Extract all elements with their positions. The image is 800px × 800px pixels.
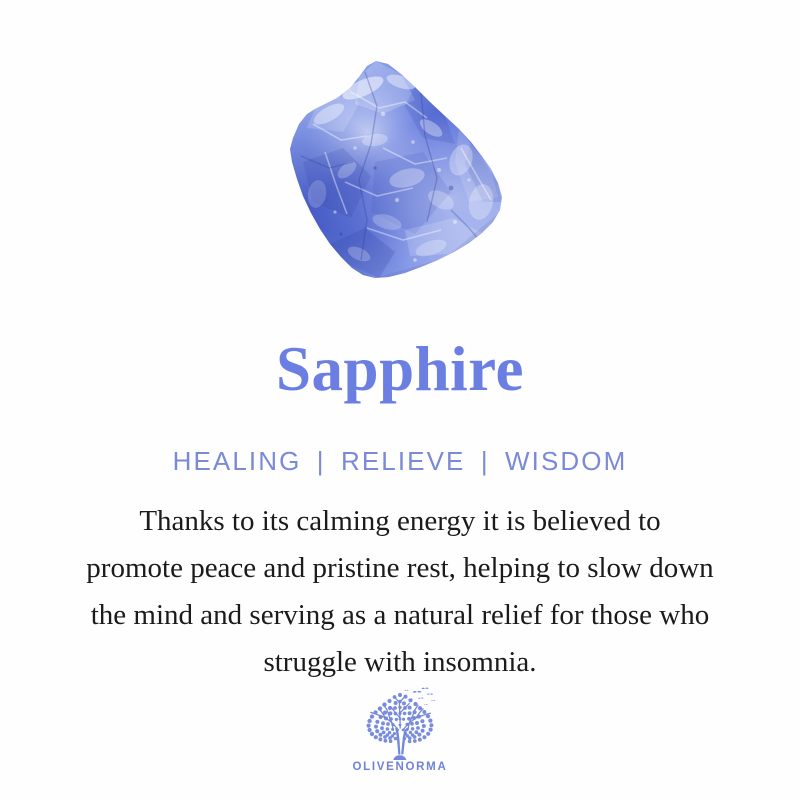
keyword-healing: HEALING [173, 446, 302, 476]
gemstone-title: Sapphire [0, 336, 800, 402]
description-line: Thanks to its calming energy it is belie… [20, 498, 780, 545]
brand-logo: OLIVENORMA [0, 686, 800, 773]
gemstone-info-card: Sapphire HEALING | RELIEVE | WISDOM Than… [0, 0, 800, 800]
brand-name: OLIVENORMA [353, 761, 448, 773]
keyword-wisdom: WISDOM [505, 446, 627, 476]
description-line: the mind and serving as a natural relief… [20, 592, 780, 639]
olive-tree-icon [357, 686, 443, 760]
keyword-separator-2: | [475, 446, 496, 476]
birds-icon [404, 688, 435, 706]
keyword-separator-1: | [311, 446, 332, 476]
description-line: promote peace and pristine rest, helping… [20, 545, 780, 592]
keyword-list: HEALING | RELIEVE | WISDOM [0, 446, 800, 477]
description-line: struggle with insomnia. [20, 639, 780, 686]
description-text: Thanks to its calming energy it is belie… [20, 498, 780, 686]
gem-body [255, 52, 523, 288]
keyword-relieve: RELIEVE [341, 446, 466, 476]
sapphire-crystal-image [255, 52, 523, 288]
